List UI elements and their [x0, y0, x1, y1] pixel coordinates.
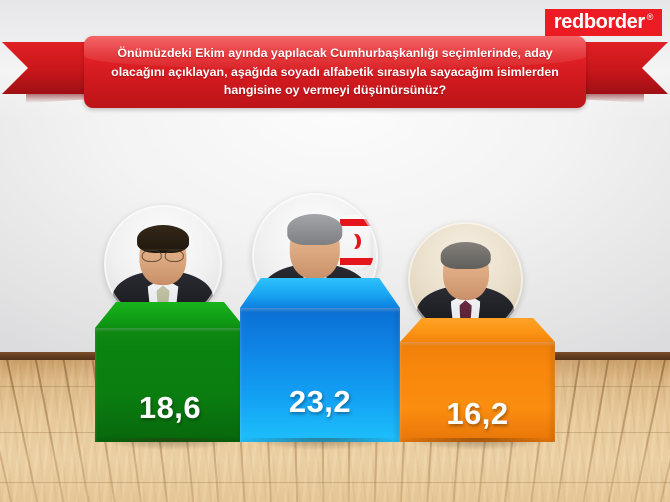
podium-value-green: 18,6 — [95, 390, 245, 426]
podium-top-green — [95, 302, 245, 328]
podium-shadow-orange — [406, 438, 549, 450]
infographic-stage: redborder® Önümüzdeki Ekim ayında yapıla… — [0, 0, 670, 502]
podium-bar-green: 18,6 — [95, 328, 245, 442]
podium-value-orange: 16,2 — [400, 396, 555, 432]
podium-bar-orange: 16,2 — [400, 342, 555, 442]
podium-top-blue — [240, 278, 400, 308]
podium-bar-blue: 23,2 — [240, 308, 400, 442]
podium-face-blue — [240, 308, 400, 442]
podium-top-orange — [400, 318, 555, 342]
podium-shadow-green — [101, 438, 239, 450]
podium-shadow-blue — [246, 438, 393, 450]
podium-value-blue: 23,2 — [240, 384, 400, 420]
podium-chart: 18,6 23,2 — [0, 0, 670, 502]
